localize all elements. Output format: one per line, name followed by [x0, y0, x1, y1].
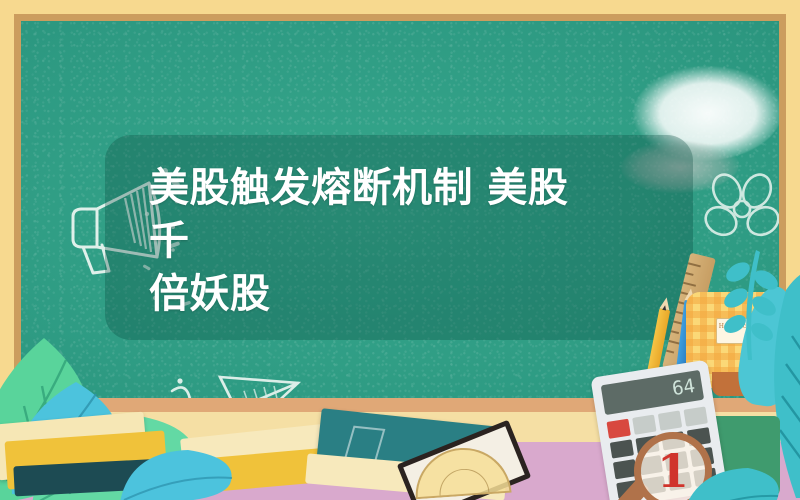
page-title: 美股触发熔断机制 美股千 倍妖股 [149, 162, 579, 320]
thumbnail-image: 美股触发熔断机制 美股千 倍妖股 [0, 0, 800, 500]
title-line-1: 美股触发熔断机制 美股千 [149, 162, 579, 268]
leaf-bottom-right [680, 462, 790, 500]
title-line-2: 倍妖股 [149, 268, 579, 321]
leaf-pink-area [118, 446, 248, 500]
leaf-sprig [712, 244, 782, 369]
